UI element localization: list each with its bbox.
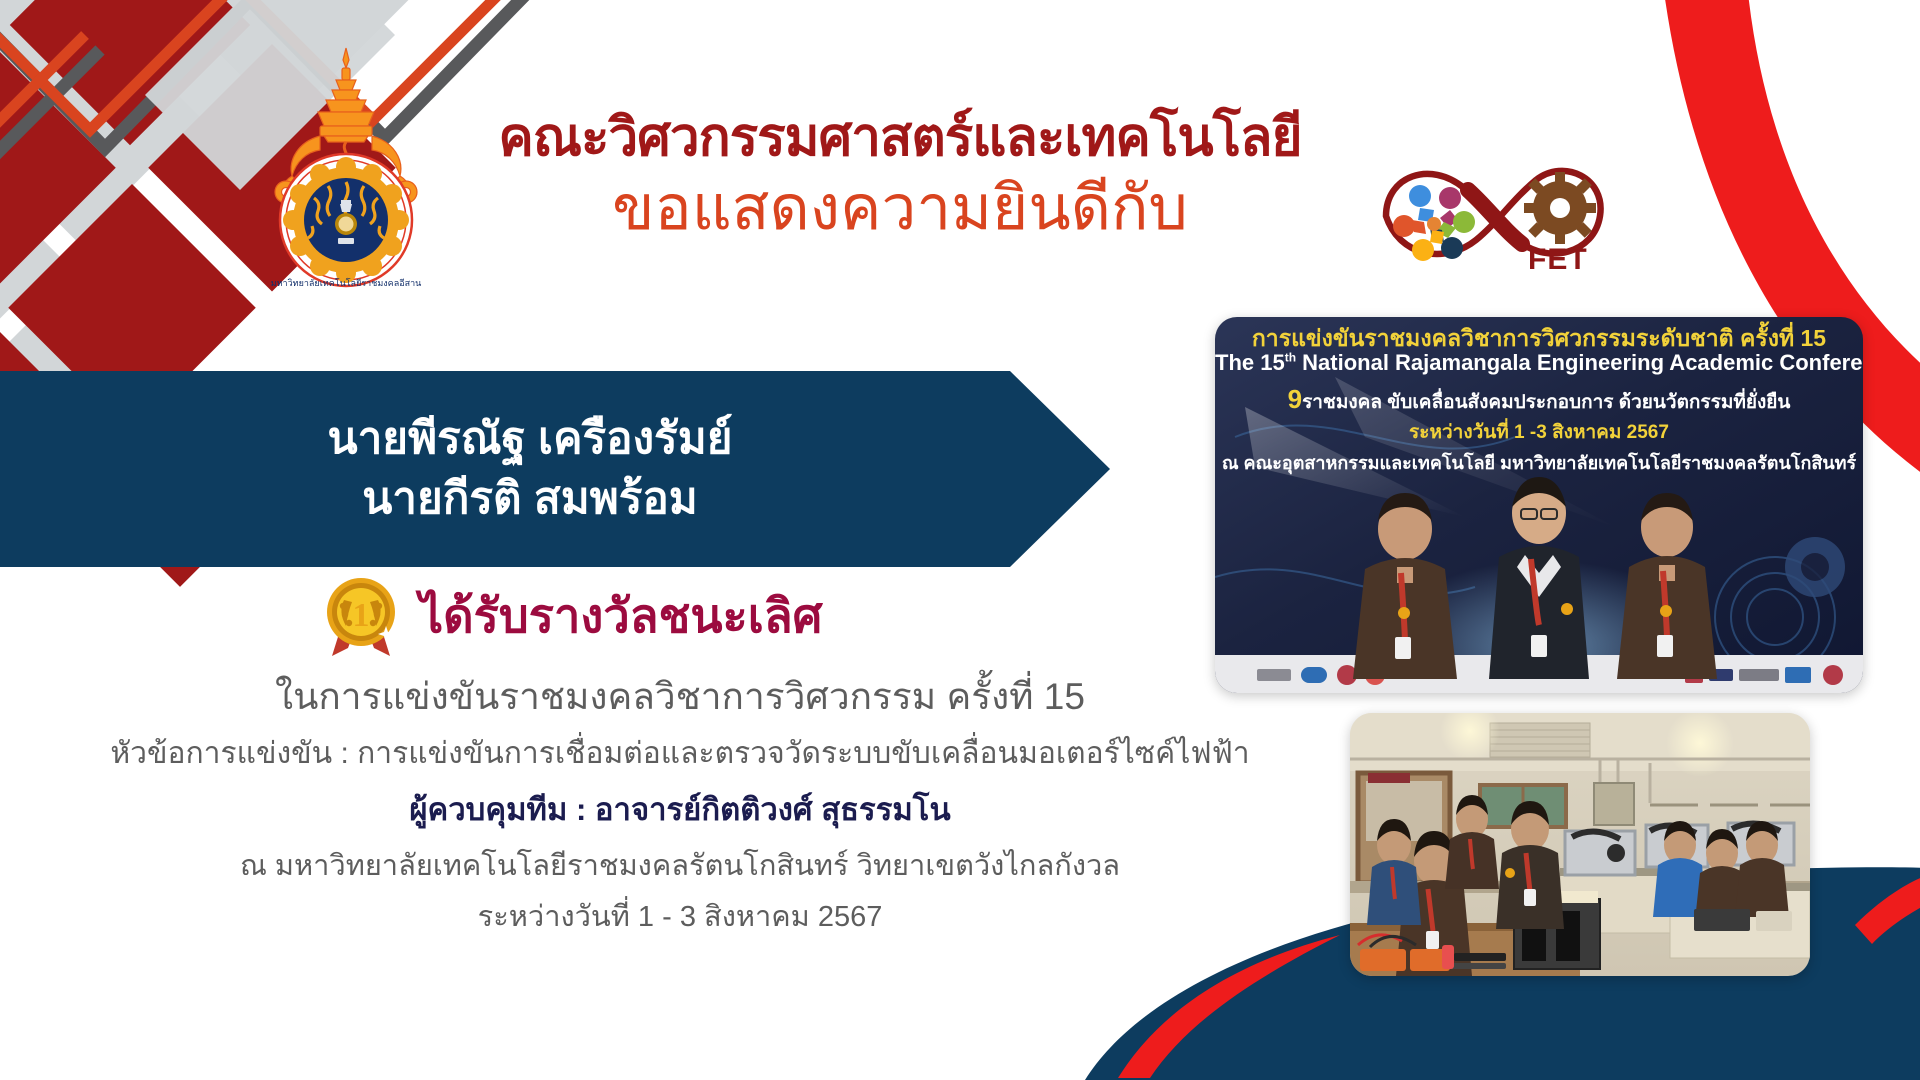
award-label: ได้รับรางวัลชนะเลิศ [420,592,823,639]
names-list: นายพีรณัฐ เครืองรัมย์ นายกีรติ สมพร้อม [0,371,1060,567]
details-block: ในการแข่งขันราชมงคลวิชาการวิศวกรรม ครั้ง… [0,668,1360,940]
svg-text:มหาวิทยาลัยเทคโนโลยีราชมงคลอีส: มหาวิทยาลัยเทคโนโลยีราชมงคลอีสาน [271,278,422,288]
workshop-competition-photo [1350,713,1810,976]
faculty-title: คณะวิศวกรรมศาสตร์และเทคโนโลยี [450,108,1350,167]
student-name-1: นายพีรณัฐ เครืองรัมย์ [328,410,733,468]
coach-line: ผู้ควบคุมทีม : อาจารย์กิตติวงศ์ สุธรรมโน [0,786,1360,834]
date-line: ระหว่างวันที่ 1 - 3 สิงหาคม 2567 [0,895,1360,940]
poster-canvas: มหาวิทยาลัยเทคโนโลยีราชมงคลอีสาน คณะวิศว… [0,0,1920,1080]
header-titles: คณะวิศวกรรมศาสตร์และเทคโนโลยี ขอแสดงความ… [450,108,1350,247]
test-stand-1 [1565,831,1635,875]
award-row: 1 ได้รับรางวัลชนะเลิศ [0,572,1140,658]
student-name-2: นายกีรติ สมพร้อม [362,470,698,528]
gear-icon [1524,172,1596,244]
gold-medal-first-place-icon: 1 [318,572,404,658]
red-swoosh-right [1855,876,1920,944]
team-group-photo-at-conference-backdrop: การแข่งขันราชมงคลวิชาการวิศวกรรมระดับชาต… [1215,317,1863,693]
red-swoosh-bottom [1118,935,1340,1078]
medal-number: 1 [352,597,369,634]
people-circle-icon [1393,185,1475,261]
congrats-title: ขอแสดงความยินดีกับ [450,171,1350,247]
fet-logo-label: FET [1528,243,1588,277]
rmuti-crest-icon: มหาวิทยาลัยเทคโนโลยีราชมงคลอีสาน [248,42,444,292]
place-line: ณ มหาวิทยาลัยเทคโนโลยีราชมงคลรัตนโกสินทร… [0,844,1360,889]
topic-line: หัวข้อการแข่งขัน : การแข่งขันการเชื่อมต่… [0,731,1360,778]
contest-line: ในการแข่งขันราชมงคลวิชาการวิศวกรรม ครั้ง… [0,668,1360,725]
